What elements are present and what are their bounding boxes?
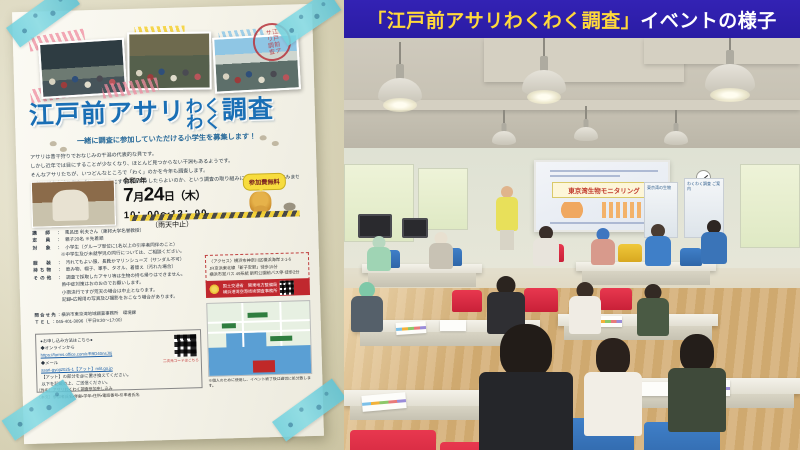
participant-body [584, 372, 642, 436]
participant-body [668, 368, 726, 432]
slide-title: 東京湾生物モニタリング [552, 182, 656, 198]
poster-inset-photo [31, 179, 116, 227]
window-right [740, 164, 800, 248]
map-green-3 [270, 336, 292, 342]
event-month: 7 [123, 185, 134, 206]
participant-back-1 [366, 236, 392, 270]
free-badge: 参加費無料 [243, 173, 286, 191]
slide-header-line [550, 170, 658, 172]
lamp-glow [527, 90, 561, 104]
participant-body [591, 239, 615, 265]
participant-body [367, 247, 391, 271]
map-water-2 [226, 332, 266, 349]
poster-title-tail: 調査 [221, 95, 274, 124]
event-weekday: （木） [174, 190, 206, 203]
presenter [494, 186, 520, 248]
monitor-icon-2 [402, 218, 428, 238]
lamp-shade [492, 131, 516, 145]
lamp-glow [710, 88, 750, 102]
participant-head [500, 324, 552, 378]
detail-colon: ： [58, 266, 63, 274]
participant-body [637, 298, 669, 336]
banner-title-plain: イベントの様子 [640, 11, 777, 32]
gov-line-2: 横浜港湾空港技術調査事務所 [223, 287, 278, 294]
lamp-rod [585, 106, 587, 120]
chair-yellow-1 [618, 244, 642, 262]
qr-code-icon[interactable] [174, 334, 197, 357]
lamp-rod [675, 110, 677, 124]
contact-org: 横浜市東京湾地域調査事務所 環境課 [61, 310, 136, 317]
pendant-lamp-icon-3 [706, 38, 754, 100]
detail-label [34, 296, 56, 304]
lamp-shade [574, 127, 598, 141]
lamp-shade [664, 131, 688, 145]
participant-body [701, 232, 727, 264]
ministry-seal-icon [209, 284, 220, 295]
map-destination-marker [253, 360, 275, 373]
poster-title-main: 江戸前アサリ [29, 97, 186, 129]
banner-title-quoted: 「江戸前アサリわくわく調査」 [367, 11, 640, 32]
chair-blue-3 [680, 248, 702, 266]
participant-front-main [478, 324, 574, 450]
day-unit: 日 [164, 191, 175, 203]
lamp-rod [503, 110, 505, 124]
chair-red-2 [452, 290, 482, 312]
presenter-body [496, 197, 518, 231]
month-unit: 月 [133, 192, 144, 204]
location-map [206, 300, 312, 377]
map-green-1 [248, 312, 268, 318]
event-day: 24 [143, 184, 164, 206]
map-note: ※個人のために使用し、イベント終了後は適切に処分致します。 [208, 376, 312, 389]
slide-pie-chart [554, 202, 590, 218]
map-road-3 [241, 303, 244, 347]
pendant-lamp-icon-4 [490, 110, 518, 152]
poster-title-waku2: わく [186, 112, 223, 132]
participant-back-4 [590, 228, 616, 264]
lamp-rod [399, 42, 401, 66]
participant-back-6 [700, 220, 728, 262]
participant-body [479, 372, 573, 450]
handout-2 [440, 320, 466, 331]
participant-back-3 [532, 226, 560, 264]
clam-deco-2 [60, 147, 67, 152]
participant-back-2 [428, 232, 454, 268]
qr-code-small-icon [280, 280, 294, 294]
slide-footer-line [550, 222, 654, 224]
handout-1 [396, 321, 427, 335]
poster-title: 江戸前アサリわくわく調査 [29, 96, 302, 135]
participant-back-5 [644, 224, 672, 264]
government-logo-bar: 国土交通省 関東地方整備局 横浜港湾空港技術調査事務所 [206, 278, 310, 298]
gov-text: 国土交通省 関東地方整備局 横浜港湾空港技術調査事務所 [223, 282, 278, 294]
lamp-glow [383, 98, 417, 112]
participant-front-2 [582, 338, 644, 434]
event-date-block: 令和7年 7月24日（木） 10：00～12：00 （雨天中止） [123, 172, 245, 231]
participant-body [533, 238, 559, 266]
participant-mid-4 [636, 284, 670, 334]
clam-deco-4 [272, 141, 279, 146]
participant-body [429, 243, 453, 269]
pendant-lamp-icon-2 [522, 38, 566, 106]
poster-detail-list: 講 師：風呂田 利夫さん（東邦大学名誉教授） 定 員：親子20名 ※先着順 対 … [32, 225, 202, 304]
pendant-lamp-icon-6 [662, 110, 690, 152]
tel-value: 045-401-3896（平日9:30～17:00） [56, 318, 125, 325]
presenter-legs [500, 230, 514, 250]
slide-canvas: 江戸前アサリ調査 江戸前アサリわくわく調査 一緒に調査に参加していただける小学生… [0, 0, 800, 450]
classroom-photo: 東京湾生物モニタリング 東京湾の生物 わくわく調査 ご案内 [344, 38, 800, 450]
contact-block: 問 合 せ 先 ：横浜市東京湾地域調査事務所 環境課 Ｔ Ｅ Ｌ ：045-40… [34, 307, 200, 327]
contact-label: 問 合 せ 先 [34, 312, 55, 318]
pendant-lamp-icon-5 [572, 106, 600, 148]
detail-colon: ： [57, 236, 62, 244]
detail-colon: ： [58, 244, 63, 252]
chair-red-front-1 [350, 430, 436, 450]
lamp-rod [543, 38, 545, 58]
participant-mid-1 [350, 282, 384, 330]
event-poster: 江戸前アサリ調査 江戸前アサリわくわく調査 一緒に調査に参加していただける小学生… [12, 4, 324, 444]
pendant-lamp-icon-1 [378, 42, 422, 114]
tel-label: Ｔ Ｅ Ｌ [35, 320, 51, 325]
chair-red-4 [600, 288, 632, 310]
qr-caption: 二次元コードはこちら [163, 357, 199, 364]
map-green-2 [222, 323, 236, 328]
detail-colon: ： [57, 229, 62, 237]
chair-red-3 [524, 288, 558, 312]
slide-line-2 [550, 175, 620, 177]
detail-colon: ： [58, 274, 63, 282]
participant-body [351, 296, 383, 332]
monitor-icon [358, 214, 392, 238]
participant-head [596, 338, 630, 376]
title-banner: 「江戸前アサリわくわく調査」イベントの様子 [344, 0, 800, 38]
detail-colon: ： [58, 259, 63, 267]
participant-front-3 [666, 334, 728, 430]
event-photo-pane: 「江戸前アサリわくわく調査」イベントの様子 [344, 0, 800, 450]
banner-title: 「江戸前アサリわくわく調査」イベントの様子 [367, 6, 777, 33]
participant-body [645, 236, 671, 266]
participant-head [680, 334, 714, 372]
poster-photo-pane: 江戸前アサリ調査 江戸前アサリわくわく調査 一緒に調査に参加していただける小学生… [0, 0, 344, 450]
